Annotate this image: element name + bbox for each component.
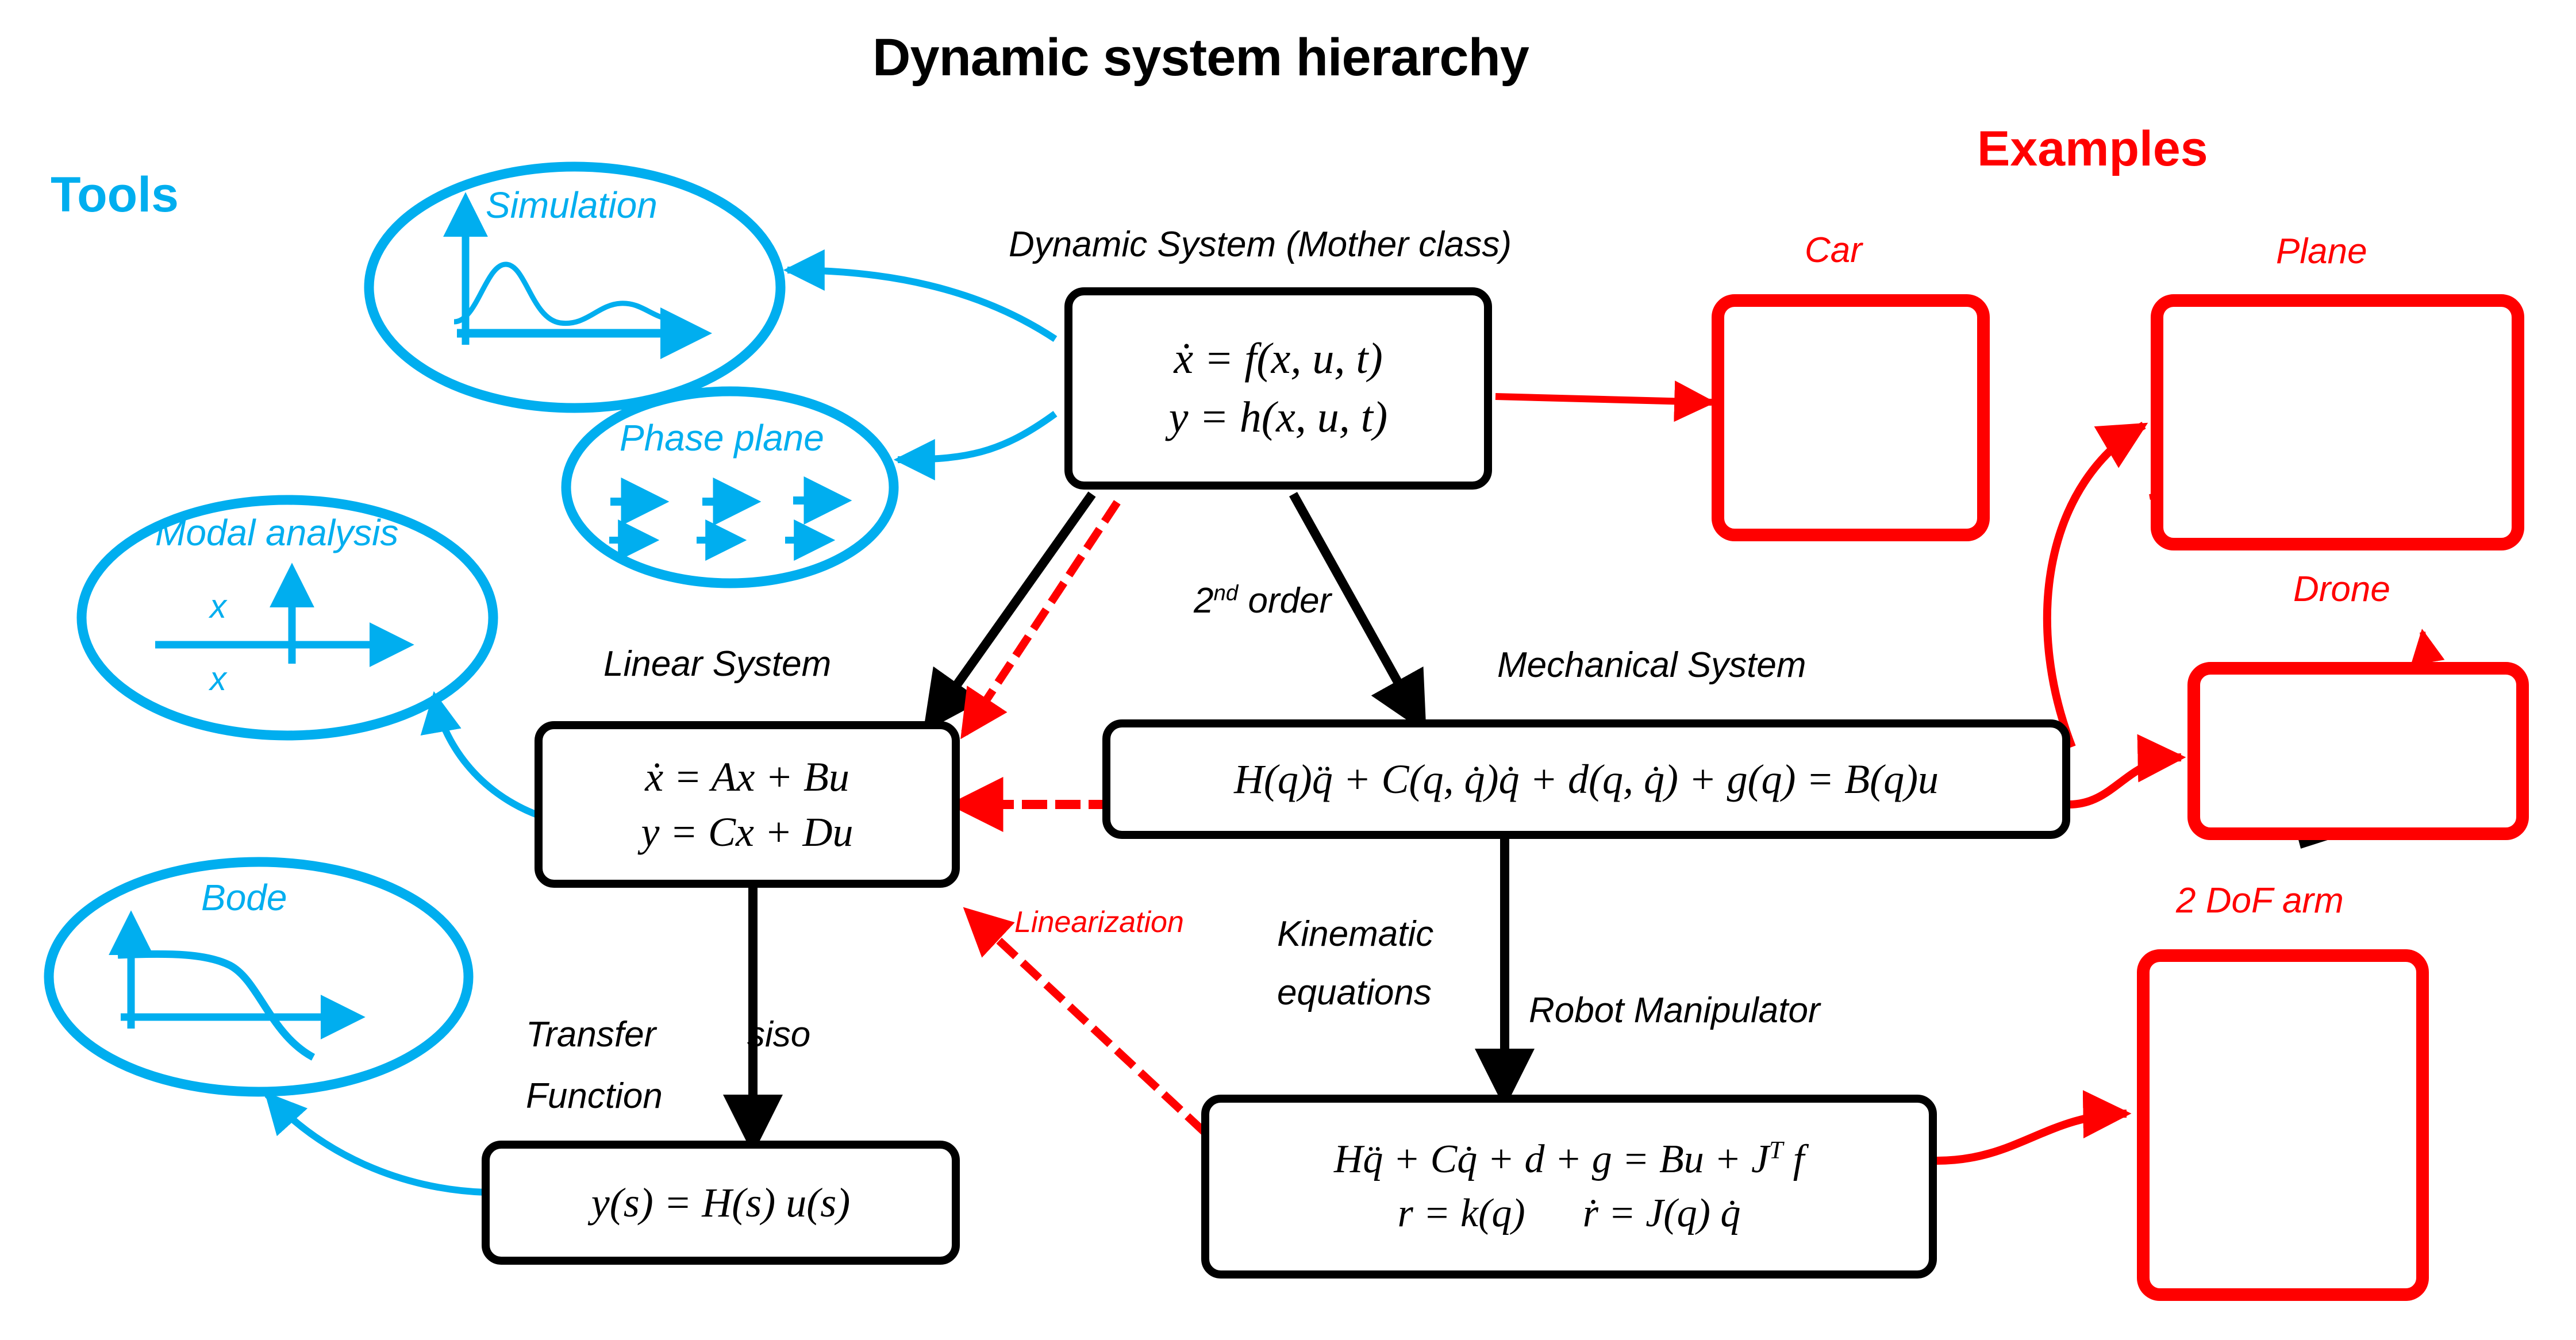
node-caption-mechanical-system: Mechanical System [1497,645,1806,686]
node-caption-robot-manipulator: Robot Manipulator [1529,990,1820,1031]
example-label-drone: Drone [2293,569,2390,610]
diagram-canvas: Dynamic system hierarchy Tools Examples … [0,0,2576,1340]
tool-label-simulation[interactable]: Simulation [486,184,658,226]
eq-mechanical-dynamics: H(q)q̈ + C(q, q̇)q̇ + d(q, q̇) + g(q) = … [1234,752,1939,807]
edge-tf-to-bode [267,1095,486,1192]
modal-eigenvalue-mark-lower: x [210,660,226,698]
example-label-plane: Plane [2276,231,2367,272]
tool-label-modal-analysis[interactable]: Modal analysis [155,511,398,554]
edge-dynamic-to-phase-plane [898,414,1055,460]
eq-robot-dynamics: Hq̈ + Cq̇ + d + g = Bu + JT f [1334,1133,1804,1187]
node-transfer-function[interactable]: y(s) = H(s) u(s) [482,1141,960,1265]
edge-label-kinematic-line1: Kinematic [1277,914,1433,954]
edge-robot-to-arm [1937,1114,2127,1161]
example-label-two-dof-arm: 2 DoF arm [2176,880,2344,921]
edge-linearize-robot-to-linear [971,915,1201,1129]
edge-label-second-order: 2nd order [1194,580,1331,621]
node-caption-dynamic-system: Dynamic System (Mother class) [1009,224,1512,265]
edge-linearize-dynamic-to-linear [967,506,1115,730]
example-label-car: Car [1805,230,1862,271]
edge-linear-to-modal [435,695,540,816]
edge-mechanical-to-plane [2047,425,2144,747]
example-frame-drone[interactable] [2187,662,2529,840]
example-frame-two-dof-arm[interactable] [2137,949,2429,1301]
section-label-examples: Examples [1977,121,2208,178]
edge-dynamic-to-car [1495,396,1712,402]
edge-dynamic-to-linear [931,494,1092,721]
edge-label-linearization: Linearization [1014,905,1184,939]
edge-label-transfer-function-line2: Function [526,1076,663,1116]
eq-linear-state: ẋ = Ax + Bu [641,749,853,804]
edge-label-kinematic-line2: equations [1277,972,1432,1013]
eq-linear-output: y = Cx + Du [641,804,853,860]
edge-label-transfer-function-line1: Transfer [526,1014,656,1055]
node-robot-manipulator[interactable]: Hq̈ + Cq̇ + d + g = Bu + JT f r = k(q)ṙ… [1201,1095,1937,1279]
example-frame-plane[interactable] [2151,294,2524,550]
eq-dynamic-output: y = h(x, u, t) [1169,388,1387,447]
example-frame-car[interactable] [1712,294,1990,541]
edge-label-siso: siso [747,1014,810,1055]
node-linear-system[interactable]: ẋ = Ax + Bu y = Cx + Du [535,721,960,888]
node-mechanical-system[interactable]: H(q)q̈ + C(q, q̇)q̇ + d(q, q̇) + g(q) = … [1102,719,2070,839]
section-label-tools: Tools [51,167,179,224]
edge-dynamic-to-simulation [787,270,1055,339]
edge-mechanical-to-drone [2069,757,2181,804]
modal-eigenvalue-mark-upper: x [210,587,226,626]
eq-dynamic-state: ẋ = f(x, u, t) [1169,330,1387,388]
node-dynamic-system[interactable]: ẋ = f(x, u, t) y = h(x, u, t) [1064,287,1492,490]
page-title: Dynamic system hierarchy [872,28,1529,88]
node-caption-linear-system: Linear System [603,644,831,684]
tool-label-bode[interactable]: Bode [201,876,287,919]
tool-label-phase-plane[interactable]: Phase plane [620,417,824,459]
eq-transfer-function: y(s) = H(s) u(s) [591,1175,850,1230]
eq-robot-kinematics: r = k(q)ṙ = J(q) q̇ [1334,1187,1804,1241]
